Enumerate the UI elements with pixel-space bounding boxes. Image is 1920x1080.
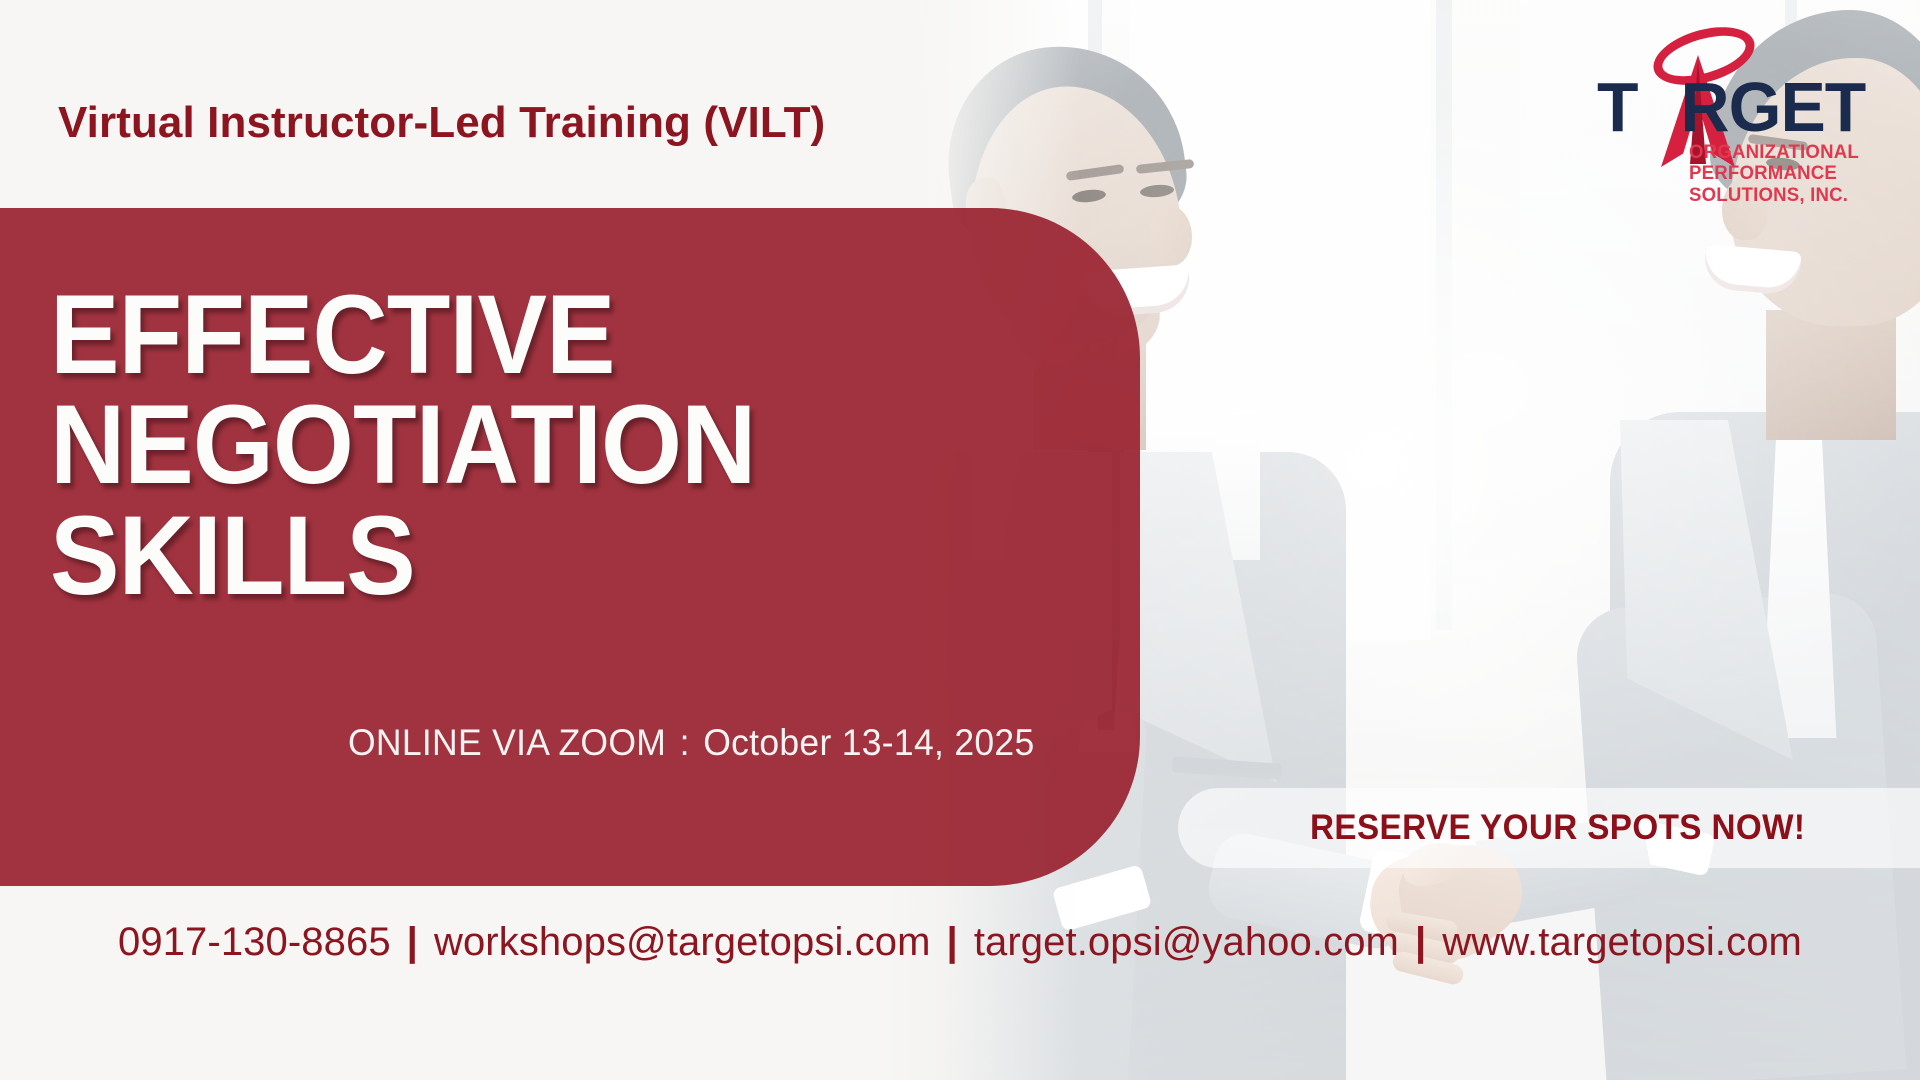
- contact-separator: |: [931, 920, 974, 965]
- headline-line-3: SKILLS: [50, 501, 1036, 611]
- headline-line-1: EFFECTIVE: [50, 280, 1036, 390]
- logo-wordmark-rest: RGET: [1681, 68, 1866, 146]
- promo-banner: Virtual Instructor-Led Training (VILT) E…: [0, 0, 1920, 1080]
- schedule-separator: :: [666, 722, 703, 764]
- contact-email-secondary[interactable]: target.opsi@yahoo.com: [974, 920, 1399, 964]
- logo-wordmark-t: T: [1597, 68, 1632, 146]
- schedule-line: ONLINE VIA ZOOM:October 13-14, 2025: [348, 722, 1035, 764]
- delivery-mode: ONLINE VIA ZOOM: [348, 722, 666, 763]
- reserve-spots-label: RESERVE YOUR SPOTS NOW!: [1310, 808, 1805, 848]
- logo-tagline-line-2: PERFORMANCE: [1689, 163, 1861, 184]
- reserve-spots-button[interactable]: RESERVE YOUR SPOTS NOW!: [1178, 788, 1920, 868]
- contact-email-primary[interactable]: workshops@targetopsi.com: [434, 920, 931, 964]
- page-title: EFFECTIVE NEGOTIATION SKILLS: [50, 280, 1036, 611]
- contact-separator: |: [391, 920, 434, 965]
- logo-wordmark: TARGET: [1597, 72, 1855, 142]
- logo-tagline: ORGANIZATIONAL PERFORMANCE SOLUTIONS, IN…: [1689, 142, 1861, 206]
- logo-tagline-line-1: ORGANIZATIONAL: [1689, 142, 1861, 163]
- headline-line-2: NEGOTIATION: [50, 390, 1036, 500]
- contact-website[interactable]: www.targetopsi.com: [1442, 920, 1802, 964]
- contact-strip: 0917-130-8865|workshops@targetopsi.com|t…: [0, 920, 1920, 965]
- contact-phone[interactable]: 0917-130-8865: [118, 920, 391, 964]
- logo-tagline-line-3: SOLUTIONS, INC.: [1689, 185, 1861, 206]
- course-dates: October 13-14, 2025: [703, 722, 1034, 763]
- target-opsi-logo[interactable]: TARGET ORGANIZATIONAL PERFORMANCE SOLUTI…: [1597, 30, 1863, 202]
- contact-separator: |: [1399, 920, 1442, 965]
- kicker-text: Virtual Instructor-Led Training (VILT): [58, 98, 825, 148]
